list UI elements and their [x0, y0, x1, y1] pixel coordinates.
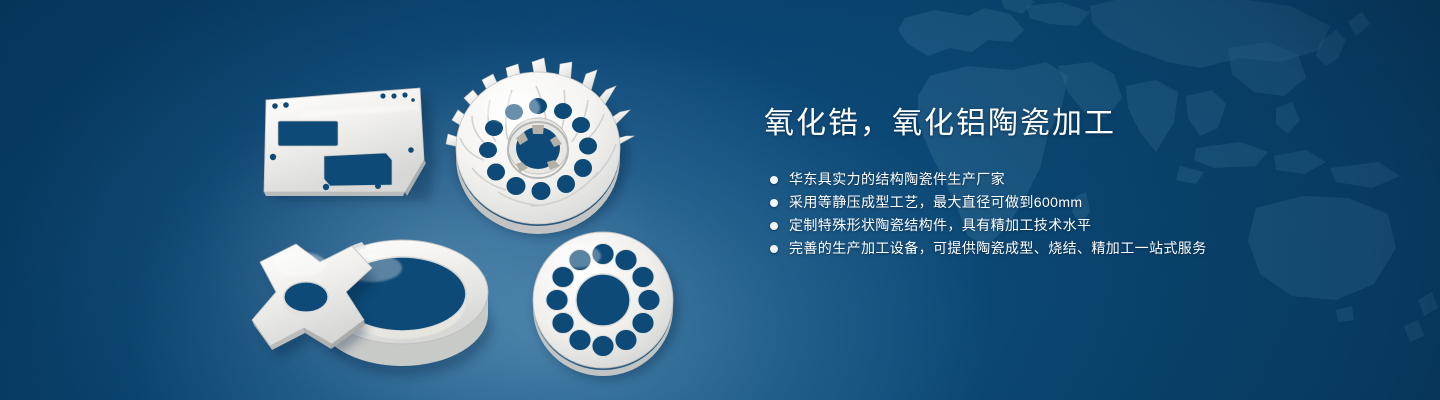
- bullet-dot-icon: [770, 245, 778, 253]
- feature-list: 华东具实力的结构陶瓷件生产厂家 采用等静压成型工艺，最大直径可做到600mm 定…: [770, 168, 1384, 260]
- banner-copy: 氧化锆，氧化铝陶瓷加工 华东具实力的结构陶瓷件生产厂家 采用等静压成型工艺，最大…: [764, 104, 1384, 260]
- list-item: 采用等静压成型工艺，最大直径可做到600mm: [770, 191, 1384, 214]
- ceramic-vaned-impeller: [446, 58, 634, 236]
- bullet-dot-icon: [770, 222, 778, 230]
- list-item-label: 完善的生产加工设备，可提供陶瓷成型、烧结、精加工一站式服务: [789, 237, 1207, 260]
- list-item: 定制特殊形状陶瓷结构件，具有精加工技术水平: [770, 214, 1384, 237]
- ceramic-products-image: [0, 0, 760, 400]
- list-item-label: 华东具实力的结构陶瓷件生产厂家: [789, 168, 1005, 191]
- bullet-dot-icon: [770, 176, 778, 184]
- list-item-label: 采用等静压成型工艺，最大直径可做到600mm: [789, 191, 1082, 214]
- bullet-dot-icon: [770, 199, 778, 207]
- list-item: 完善的生产加工设备，可提供陶瓷成型、烧结、精加工一站式服务: [770, 237, 1384, 260]
- ceramic-perforated-disc: [533, 232, 679, 380]
- ceramic-processing-banner: 氧化锆，氧化铝陶瓷加工 华东具实力的结构陶瓷件生产厂家 采用等静压成型工艺，最大…: [0, 0, 1440, 400]
- ceramic-mounting-plate: [264, 88, 435, 200]
- list-item: 华东具实力的结构陶瓷件生产厂家: [770, 168, 1384, 191]
- page-title: 氧化锆，氧化铝陶瓷加工: [764, 104, 1384, 144]
- list-item-label: 定制特殊形状陶瓷结构件，具有精加工技术水平: [789, 214, 1091, 237]
